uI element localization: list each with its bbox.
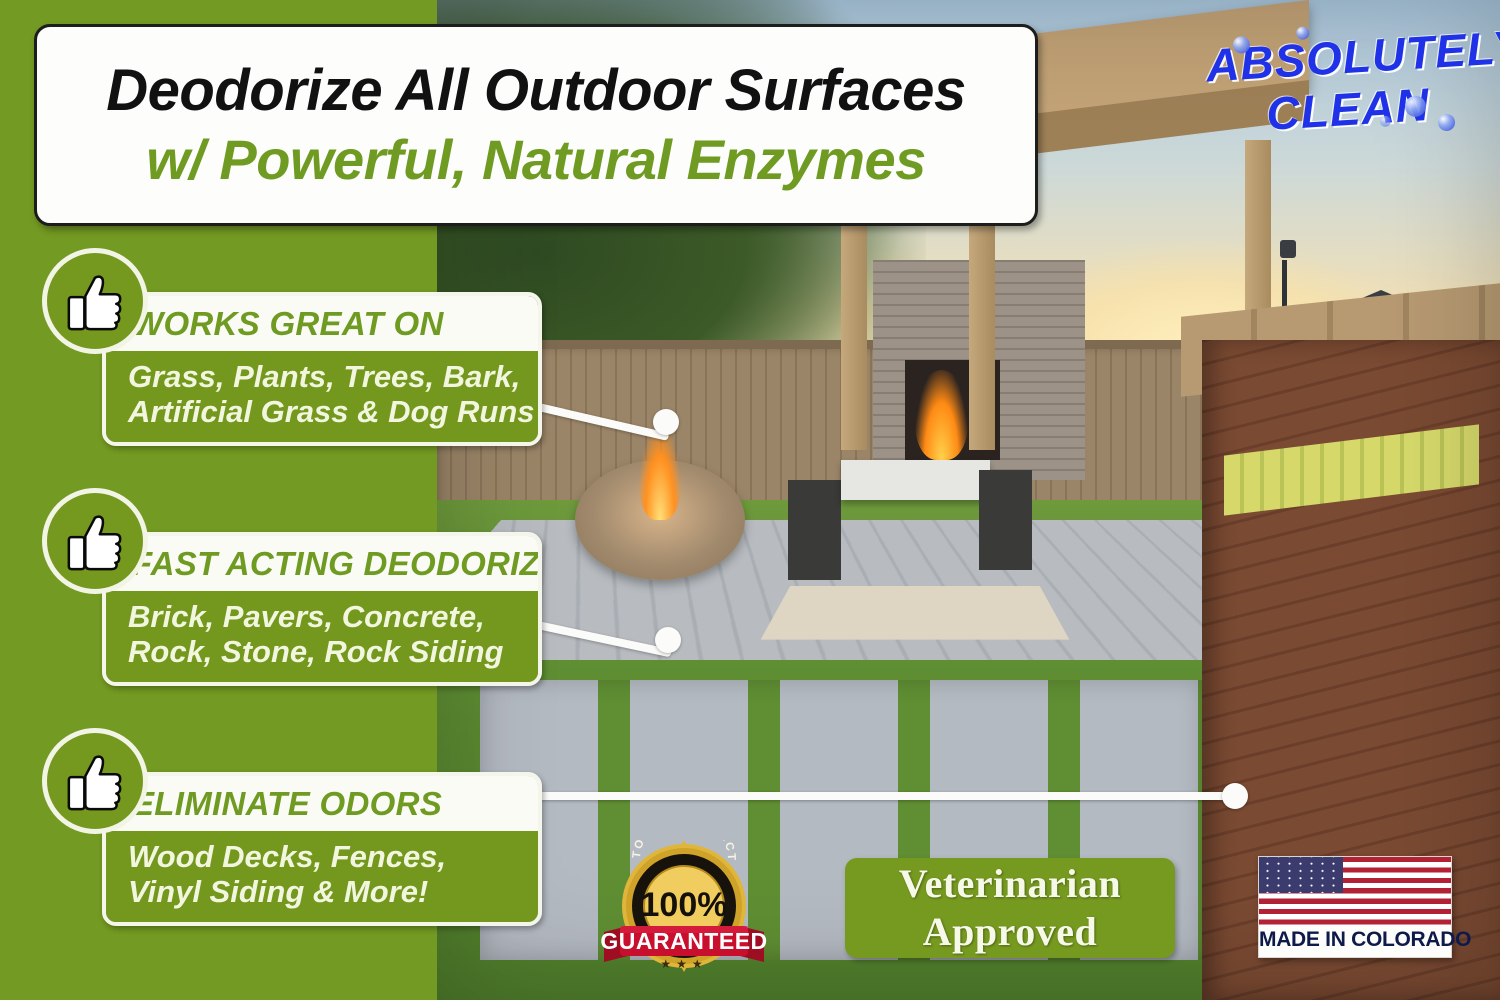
vet-badge-line-1: Veterinarian xyxy=(899,864,1121,904)
feature-body-line-2: Vinyl Siding & More! xyxy=(128,875,524,910)
flag-canton xyxy=(1259,857,1343,893)
made-in-colorado-badge: MADE IN COLORADO xyxy=(1258,856,1452,958)
feature-card: FAST ACTING DEODORIZER Brick, Pavers, Co… xyxy=(102,532,542,686)
thumbs-up-icon xyxy=(42,488,148,594)
callout-dot-1 xyxy=(653,409,679,435)
feature-body: Brick, Pavers, Concrete, Rock, Stone, Ro… xyxy=(106,591,538,682)
callout-line-3 xyxy=(495,792,1235,800)
feature-card: ELIMINATE ODORS Wood Decks, Fences, Viny… xyxy=(102,772,542,926)
flag-badge-label: MADE IN COLORADO xyxy=(1259,925,1451,955)
advertisement-banner: Deodorize All Outdoor Surfaces w/ Powerf… xyxy=(0,0,1500,1000)
thumbs-up-icon xyxy=(42,248,148,354)
veterinarian-approved-badge: Veterinarian Approved xyxy=(845,858,1175,958)
feature-body-line-2: Artificial Grass & Dog Runs xyxy=(128,395,524,430)
seal-stars: ★★★ xyxy=(660,957,707,971)
feature-body: Grass, Plants, Trees, Bark, Artificial G… xyxy=(106,351,538,442)
us-flag-icon xyxy=(1259,857,1451,925)
feature-card: WORKS GREAT ON Grass, Plants, Trees, Bar… xyxy=(102,292,542,446)
feature-title: ELIMINATE ODORS xyxy=(106,776,538,831)
callout-dot-2 xyxy=(655,627,681,653)
headline-line-1: Deodorize All Outdoor Surfaces xyxy=(106,62,965,120)
feature-body-line-2: Rock, Stone, Rock Siding xyxy=(128,635,524,670)
thumbs-up-icon xyxy=(42,728,148,834)
feature-title: WORKS GREAT ON xyxy=(106,296,538,351)
vet-badge-line-2: Approved xyxy=(923,912,1097,952)
guarantee-seal-badge: CUSTOMER SATISFACTION 100% GUARANTEED ★★… xyxy=(600,840,768,980)
bubble-icon xyxy=(1438,113,1456,131)
headline-line-2: w/ Powerful, Natural Enzymes xyxy=(146,132,926,188)
seal-ribbon-text: GUARANTEED xyxy=(600,928,767,954)
seal-percent: 100% xyxy=(641,886,728,924)
headline-banner: Deodorize All Outdoor Surfaces w/ Powerf… xyxy=(34,24,1038,226)
callout-dot-3 xyxy=(1222,783,1248,809)
feature-title: FAST ACTING DEODORIZER xyxy=(106,536,538,591)
feature-body: Wood Decks, Fences, Vinyl Siding & More! xyxy=(106,831,538,922)
feature-body-line-1: Brick, Pavers, Concrete, xyxy=(128,600,524,635)
feature-body-line-1: Grass, Plants, Trees, Bark, xyxy=(128,360,524,395)
feature-body-line-1: Wood Decks, Fences, xyxy=(128,840,524,875)
brand-logo: ABSOLUTELY CLEAN xyxy=(1205,26,1490,159)
